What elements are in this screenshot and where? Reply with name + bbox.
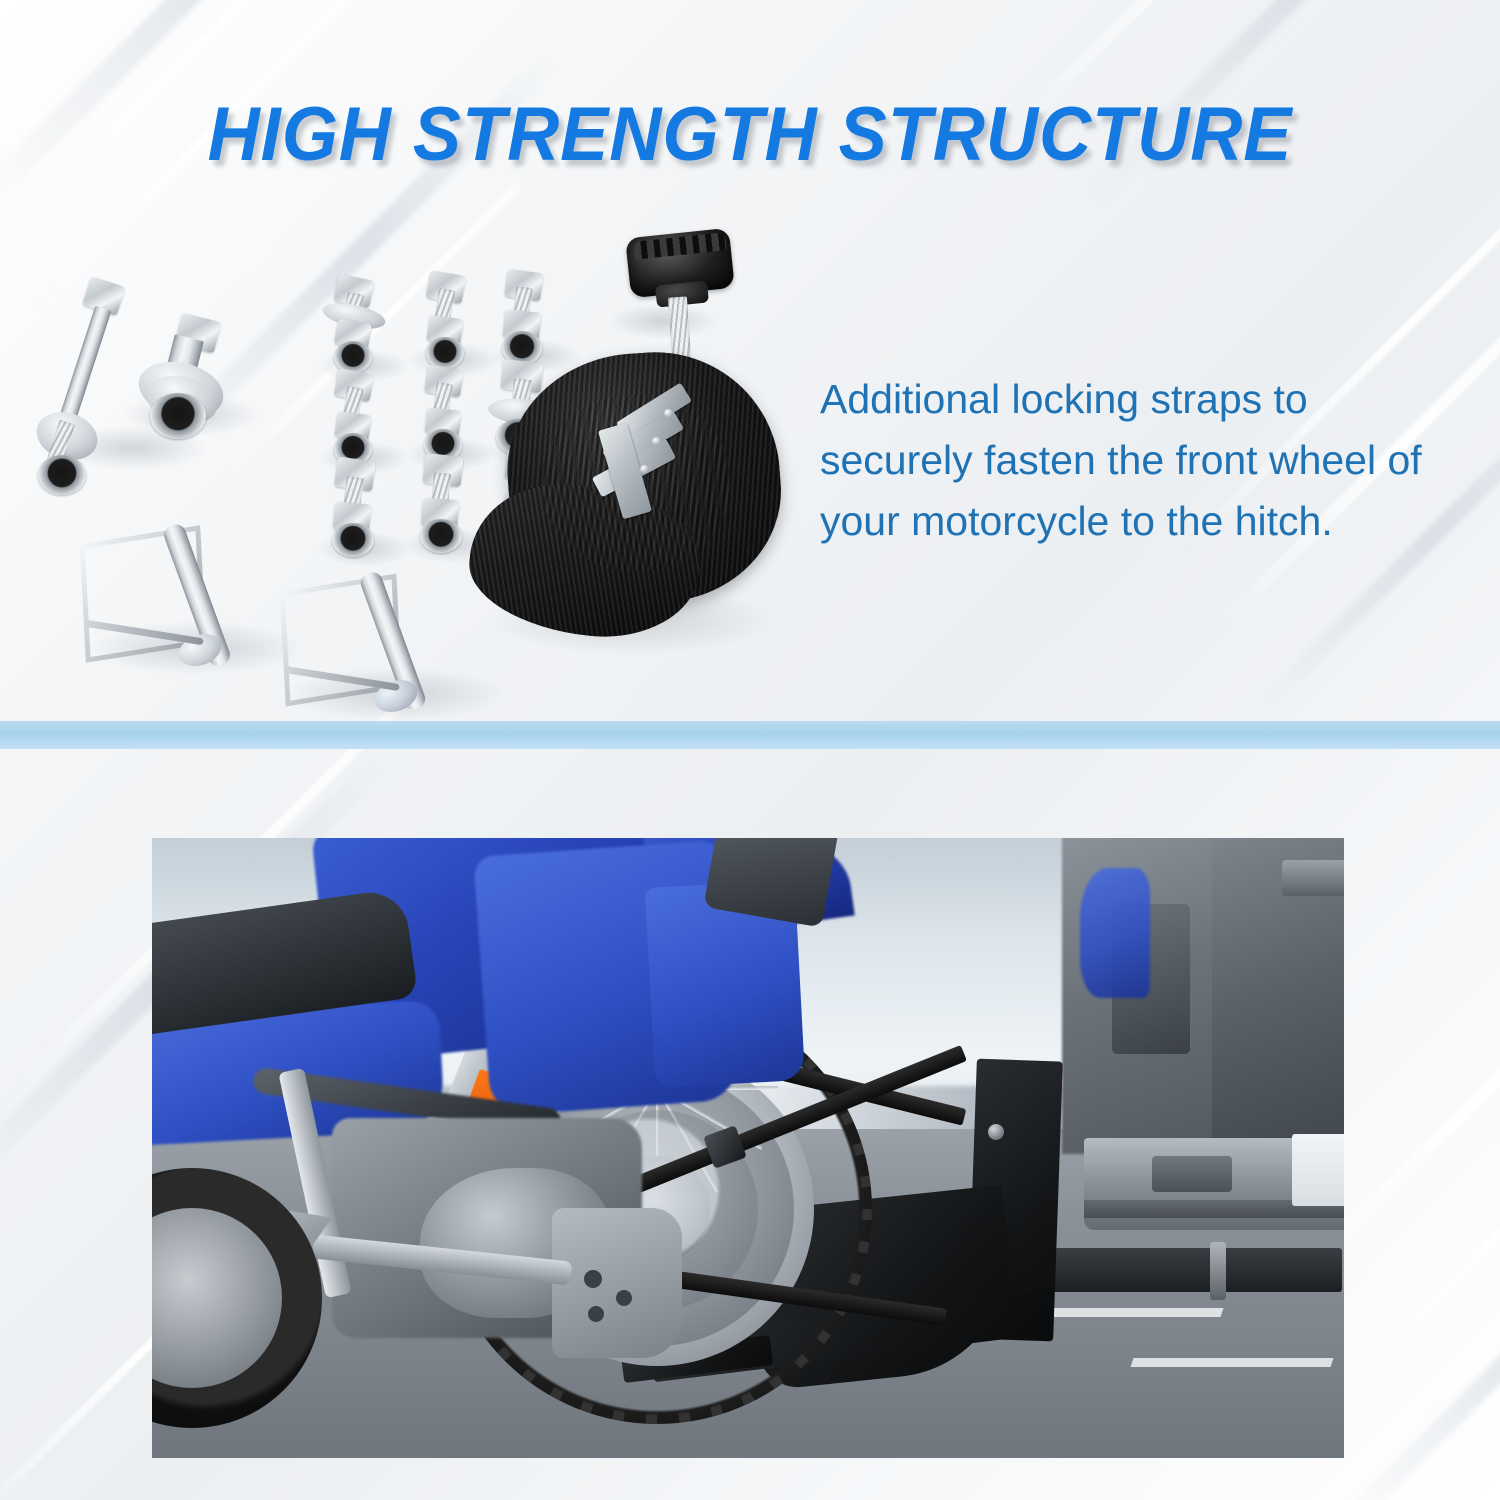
license-plate (1292, 1134, 1344, 1206)
skid-plate-hole-3 (588, 1306, 604, 1322)
hitch-receiver-arm (1052, 1248, 1342, 1292)
page-title: HIGH STRENGTH STRUCTURE (38, 97, 1463, 173)
section-divider (0, 721, 1500, 749)
installation-photo (152, 838, 1344, 1458)
truck-blue-accent (1080, 868, 1150, 998)
bumper-step-cutout (1152, 1156, 1232, 1192)
hardware-photo (30, 225, 790, 695)
skid-plate-hole-1 (584, 1270, 602, 1288)
hitch-pin (1210, 1242, 1226, 1300)
product-feature-page: HIGH STRENGTH STRUCTURE (0, 0, 1500, 1500)
skid-plate-hole-2 (616, 1290, 632, 1306)
chock-bolt-right (988, 1124, 1004, 1140)
feature-description: Additional locking straps to securely fa… (820, 369, 1470, 552)
skid-plate (552, 1208, 682, 1358)
tailgate-handle (1282, 860, 1344, 896)
top-section: HIGH STRENGTH STRUCTURE (0, 0, 1500, 721)
